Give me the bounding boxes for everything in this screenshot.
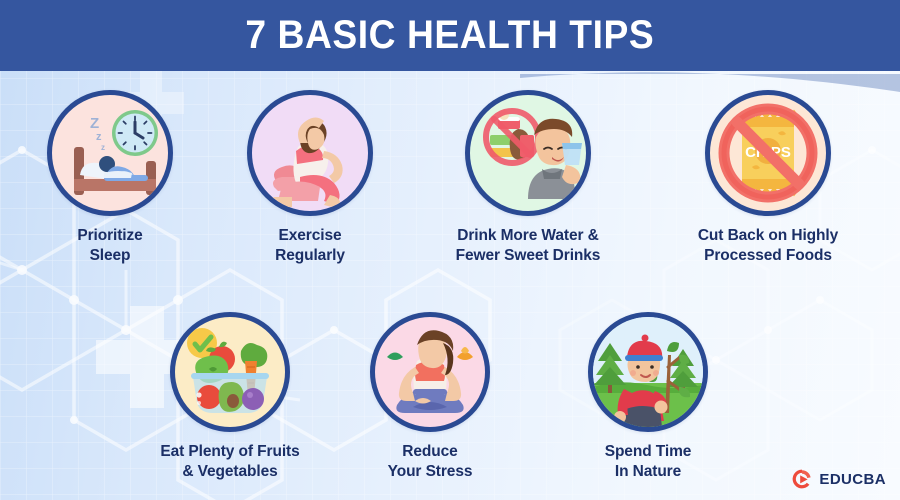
tip-5-icon-circle	[170, 312, 290, 432]
tip-3-caption-line2: Fewer Sweet Drinks	[432, 246, 624, 266]
svg-text:Z: Z	[90, 115, 99, 132]
tip-5-caption-line2: & Vegetables	[140, 462, 320, 482]
header-banner: 7 BASIC HEALTH TIPS	[0, 0, 900, 71]
tip-2-icon-circle	[247, 90, 373, 216]
educba-logo[interactable]: EDUCBA	[791, 468, 886, 490]
tip-6-caption: Reduce Your Stress	[340, 442, 520, 482]
tip-3-caption: Drink More Water & Fewer Sweet Drinks	[432, 226, 624, 266]
tip-item-4: CHIPS Cut Back on Highly Processed Foods	[672, 90, 864, 266]
person-planting-tree-nature-icon	[593, 317, 703, 427]
tip-6-caption-line2: Your Stress	[340, 462, 520, 482]
meditating-woman-lotus-icon	[375, 317, 485, 427]
tip-7-caption-line2: In Nature	[558, 462, 738, 482]
bowl-of-fruits-vegetables-icon	[175, 317, 285, 427]
tip-1-caption-line1: Prioritize	[77, 227, 142, 244]
tip-4-caption: Cut Back on Highly Processed Foods	[672, 226, 864, 266]
tip-5-caption-line1: Eat Plenty of Fruits	[160, 443, 299, 460]
tip-3-icon-circle	[465, 90, 591, 216]
tip-item-3: Drink More Water & Fewer Sweet Drinks	[432, 90, 624, 266]
svg-text:z: z	[101, 143, 105, 152]
tip-item-1: Z z z Prioritize Sleep	[20, 90, 200, 266]
svg-text:z: z	[96, 131, 102, 143]
tip-4-caption-line1: Cut Back on Highly	[698, 227, 838, 244]
tip-1-icon-circle: Z z z	[47, 90, 173, 216]
educba-logo-text: EDUCBA	[819, 471, 886, 488]
tip-1-caption-line2: Sleep	[20, 246, 200, 266]
infographic-poster: 7 BASIC HEALTH TIPS	[0, 0, 900, 500]
tip-item-7: Spend Time In Nature	[558, 312, 738, 482]
tip-5-caption: Eat Plenty of Fruits & Vegetables	[140, 442, 320, 482]
tip-2-caption-line2: Regularly	[220, 246, 400, 266]
tip-6-caption-line1: Reduce	[402, 443, 457, 460]
tip-6-icon-circle	[370, 312, 490, 432]
sleeping-person-clock-icon: Z z z	[52, 95, 168, 211]
tip-7-icon-circle	[588, 312, 708, 432]
tip-item-2: Exercise Regularly	[220, 90, 400, 266]
page-title: 7 BASIC HEALTH TIPS	[246, 13, 655, 58]
tip-2-caption: Exercise Regularly	[220, 226, 400, 266]
educba-logo-mark	[791, 468, 813, 490]
yoga-pose-woman-icon	[252, 95, 368, 211]
man-drinking-water-no-sweets-icon	[470, 95, 586, 211]
tip-1-caption: Prioritize Sleep	[20, 226, 200, 266]
tip-4-caption-line2: Processed Foods	[672, 246, 864, 266]
tip-7-caption: Spend Time In Nature	[558, 442, 738, 482]
tip-item-6: Reduce Your Stress	[340, 312, 520, 482]
tip-item-5: Eat Plenty of Fruits & Vegetables	[140, 312, 320, 482]
tip-3-caption-line1: Drink More Water &	[457, 227, 598, 244]
tip-7-caption-line1: Spend Time	[605, 443, 692, 460]
tip-4-icon-circle: CHIPS	[705, 90, 831, 216]
no-chips-bag-icon: CHIPS	[710, 95, 826, 211]
tip-2-caption-line1: Exercise	[279, 227, 342, 244]
